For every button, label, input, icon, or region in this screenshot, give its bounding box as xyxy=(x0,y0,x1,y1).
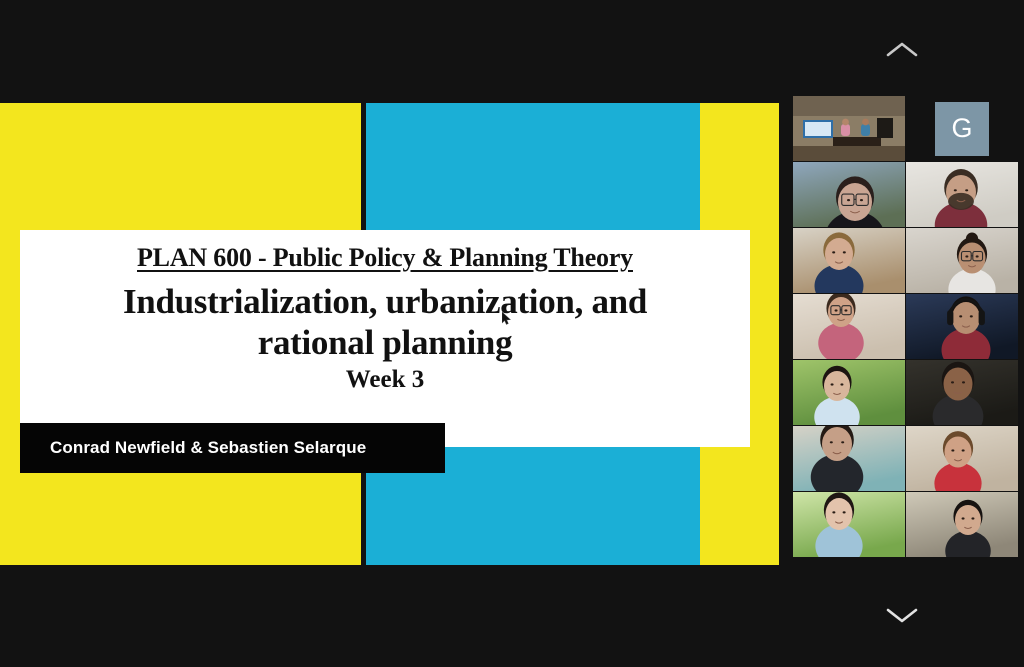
avatar: G xyxy=(935,102,989,156)
participant-tile-13[interactable] xyxy=(793,492,905,557)
participant-video-feed xyxy=(793,96,905,161)
participant-tile-10[interactable] xyxy=(906,360,1018,425)
participant-video-feed xyxy=(793,492,905,557)
participant-tile-4[interactable] xyxy=(906,162,1018,227)
participant-tile-7[interactable] xyxy=(793,294,905,359)
participant-video-feed xyxy=(906,162,1018,227)
participant-tile-2[interactable]: G xyxy=(906,96,1018,161)
filmstrip-scroll-down-button[interactable] xyxy=(780,585,1024,645)
slide-title-line-1: Industrialization, urbanization, and xyxy=(123,282,647,321)
participant-tile-12[interactable] xyxy=(906,426,1018,491)
participant-video-feed xyxy=(793,426,905,491)
participant-tile-11[interactable] xyxy=(793,426,905,491)
slide-title: Industrialization, urbanization, and rat… xyxy=(34,281,736,364)
participant-video-feed xyxy=(906,426,1018,491)
participant-tile-3[interactable] xyxy=(793,162,905,227)
participant-video-feed xyxy=(793,294,905,359)
participant-tile-9[interactable] xyxy=(793,360,905,425)
participant-video-feed xyxy=(906,492,1018,557)
slide-presenters-bar: Conrad Newfield & Sebastien Selarque xyxy=(20,423,445,473)
participant-video-feed xyxy=(793,228,905,293)
slide-title-card: PLAN 600 - Public Policy & Planning Theo… xyxy=(20,230,750,447)
participant-video-feed xyxy=(906,360,1018,425)
participant-filmstrip: G xyxy=(780,0,1024,667)
participant-tile-grid: G xyxy=(793,96,1012,557)
presentation-slide[interactable]: PLAN 600 - Public Policy & Planning Theo… xyxy=(0,103,779,565)
filmstrip-scroll-up-button[interactable] xyxy=(780,20,1024,80)
participant-tile-8[interactable] xyxy=(906,294,1018,359)
participant-tile-14[interactable] xyxy=(906,492,1018,557)
slide-title-line-2: rational planning xyxy=(258,323,513,362)
participant-video-feed xyxy=(906,294,1018,359)
slide-presenters-text: Conrad Newfield & Sebastien Selarque xyxy=(50,438,366,458)
participant-tile-5[interactable] xyxy=(793,228,905,293)
participant-tile-1[interactable] xyxy=(793,96,905,161)
shared-screen-stage[interactable]: PLAN 600 - Public Policy & Planning Theo… xyxy=(0,0,780,667)
participant-video-feed xyxy=(906,228,1018,293)
slide-week-label: Week 3 xyxy=(34,365,736,395)
participant-video-feed xyxy=(793,360,905,425)
participant-video-feed xyxy=(793,162,905,227)
slide-course-line: PLAN 600 - Public Policy & Planning Theo… xyxy=(34,242,736,275)
chevron-down-icon xyxy=(886,606,918,624)
participant-tile-6[interactable] xyxy=(906,228,1018,293)
chevron-up-icon xyxy=(886,41,918,59)
avatar-initial: G xyxy=(951,115,972,142)
meeting-window: PLAN 600 - Public Policy & Planning Theo… xyxy=(0,0,1024,667)
